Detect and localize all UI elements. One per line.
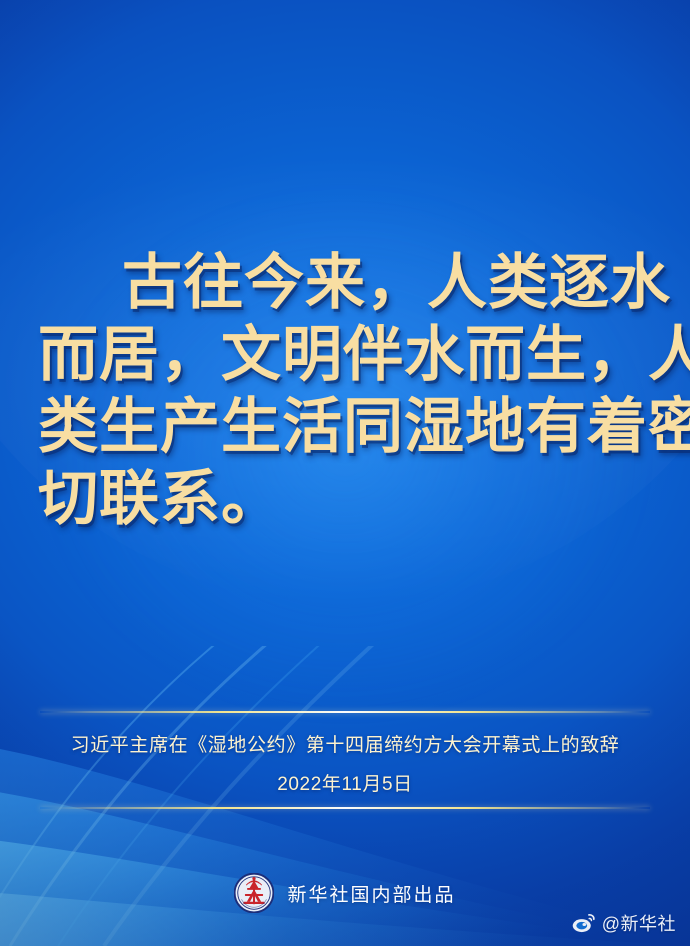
- weibo-handle: @新华社: [602, 910, 676, 936]
- xinhua-agency-emblem-icon: [234, 873, 274, 913]
- producer-credit-text: 新华社国内部出品: [287, 880, 455, 907]
- quote-poster: 古往今来，人类逐水 而居，文明伴水而生，人 类生产生活同湿地有着密 切联系。 习…: [0, 0, 690, 946]
- producer-credit-row: 新华社国内部出品: [0, 873, 690, 913]
- headline-line-1: 古往今来，人类逐水: [38, 247, 652, 319]
- headline-line-2: 而居，文明伴水而生，人: [38, 319, 652, 391]
- weibo-watermark: @新华社: [572, 910, 676, 936]
- weibo-icon: [572, 913, 596, 933]
- caption-date: 2022年11月5日: [0, 771, 690, 799]
- headline-line-4: 切联系。: [38, 463, 652, 535]
- caption-source-title: 习近平主席在《湿地公约》第十四届缔约方大会开幕式上的致辞: [0, 731, 690, 761]
- caption-block: 习近平主席在《湿地公约》第十四届缔约方大会开幕式上的致辞 2022年11月5日: [0, 731, 690, 799]
- divider-line-top: [40, 711, 650, 713]
- divider-line-bottom: [40, 807, 650, 809]
- headline-line-3: 类生产生活同湿地有着密: [38, 391, 652, 463]
- quote-headline: 古往今来，人类逐水 而居，文明伴水而生，人 类生产生活同湿地有着密 切联系。: [0, 247, 690, 535]
